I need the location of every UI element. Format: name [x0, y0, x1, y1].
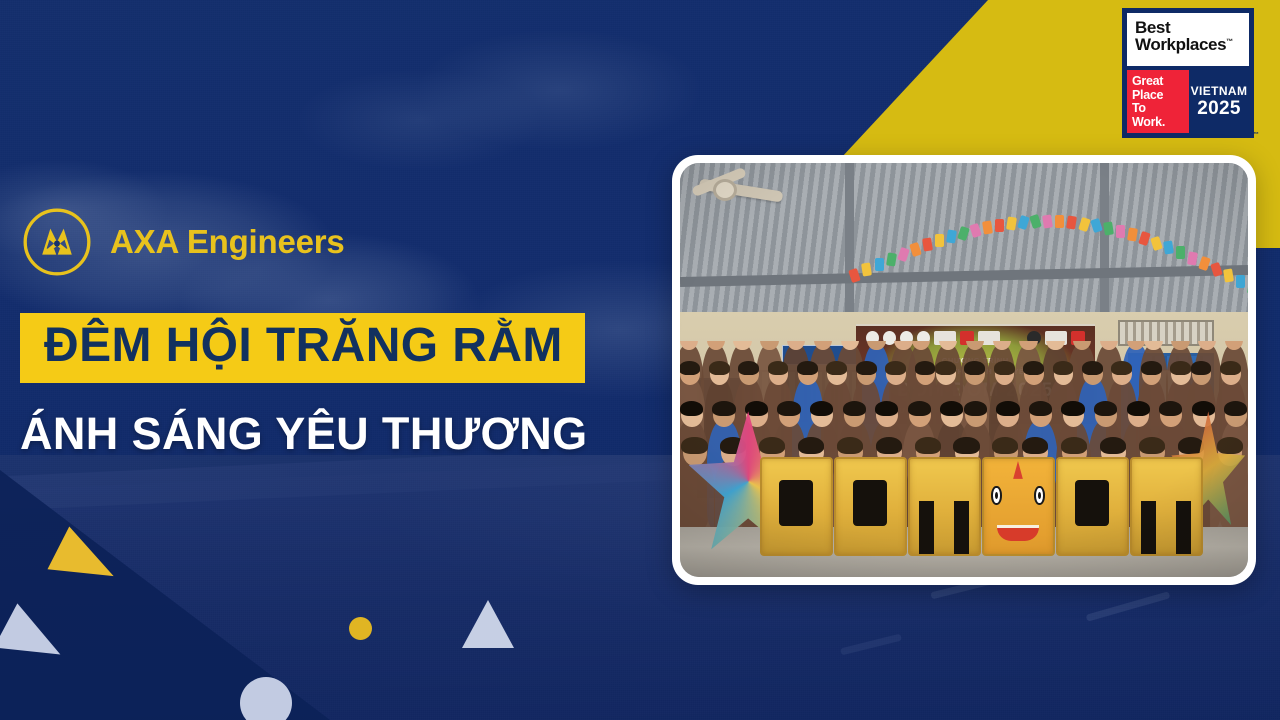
- badge-country: VIETNAM: [1191, 84, 1248, 98]
- trademark-icon: ™: [1226, 39, 1233, 46]
- person-hair: [935, 361, 956, 375]
- ceiling-fan-icon: [691, 171, 783, 211]
- person-hair: [798, 437, 824, 454]
- party-flag: [1017, 215, 1030, 230]
- party-flag: [1006, 216, 1017, 230]
- party-flag: [1055, 215, 1064, 228]
- party-flag: [1078, 216, 1091, 231]
- lion-face-icon: [988, 468, 1049, 542]
- person-hair: [953, 437, 979, 454]
- party-flag: [897, 247, 910, 262]
- person-hair: [777, 401, 800, 416]
- person-hair: [908, 401, 931, 416]
- party-flag: [1236, 275, 1245, 288]
- person-hair: [1023, 361, 1044, 375]
- party-flag: [935, 234, 944, 247]
- person-hair: [680, 401, 703, 416]
- person-hair: [876, 437, 902, 454]
- person-hair: [885, 361, 906, 375]
- person-hair: [994, 361, 1015, 375]
- person-hair: [712, 401, 735, 416]
- cardboard-letter-M2: [1130, 457, 1203, 556]
- person-hair: [843, 401, 866, 416]
- party-flag: [1042, 214, 1053, 228]
- badge-corner-trademark-icon: ™: [1253, 132, 1259, 138]
- person-hair: [1053, 361, 1074, 375]
- party-flag: [1247, 281, 1248, 295]
- badge-bottom-block: Great Place To Work. VIETNAM 2025: [1127, 70, 1249, 133]
- party-flag: [1150, 236, 1163, 251]
- axa-circular-monogram-icon: [20, 205, 94, 279]
- party-flag: [1090, 218, 1103, 233]
- person-hair: [1022, 437, 1048, 454]
- headline-subtitle: ÁNH SÁNG YÊU THƯƠNG: [20, 408, 588, 460]
- party-flag: [1030, 214, 1043, 229]
- person-hair: [875, 401, 898, 416]
- person-hair: [964, 401, 987, 416]
- party-flag: [1067, 215, 1078, 229]
- badge-title-block: Best Workplaces™: [1127, 13, 1249, 66]
- person-hair: [1111, 361, 1132, 375]
- gptw-line1: Great: [1132, 75, 1185, 89]
- cardboard-letter-M1: [908, 457, 981, 556]
- headline-title: ĐÊM HỘI TRĂNG RẰM: [44, 322, 563, 370]
- badge-line2: Workplaces™: [1135, 36, 1233, 53]
- party-flag: [1103, 221, 1114, 235]
- party-flag: [1138, 231, 1151, 246]
- party-flag: [875, 258, 884, 271]
- person-hair: [826, 361, 847, 375]
- badge-country-year: VIETNAM 2025: [1189, 70, 1249, 133]
- party-flag: [1187, 251, 1198, 265]
- group-photo: CHƯƠNG TRÌNH TRUNG THU TÌNH NGUYỆN ĐOM Đ…: [680, 163, 1248, 577]
- party-flag: [922, 238, 933, 252]
- brand-name: AXA Engineers: [110, 223, 345, 261]
- badge-year: 2025: [1197, 98, 1240, 120]
- person-hair: [1224, 401, 1247, 416]
- cardboard-letter-D1: [760, 457, 833, 556]
- person-hair: [1191, 361, 1212, 375]
- badge-line1: Best: [1135, 19, 1242, 36]
- decor-dot-yellow: [349, 617, 372, 640]
- party-flag: [1223, 268, 1234, 282]
- brand-logo: AXA Engineers: [20, 205, 345, 279]
- person-hair: [1100, 437, 1126, 454]
- person-hair: [1061, 437, 1087, 454]
- gptw-line4: Work.: [1132, 116, 1185, 130]
- person-hair: [1220, 361, 1241, 375]
- person-hair: [940, 401, 963, 416]
- decor-dot-gray: [240, 677, 292, 720]
- person-hair: [768, 361, 789, 375]
- person-hair: [759, 437, 785, 454]
- person-hair: [709, 361, 730, 375]
- party-flag-string: [850, 180, 1248, 304]
- person-hair: [992, 437, 1018, 454]
- party-flag: [946, 230, 957, 244]
- person-hair: [915, 437, 941, 454]
- photo-card: CHƯƠNG TRÌNH TRUNG THU TÌNH NGUYỆN ĐOM Đ…: [672, 155, 1256, 585]
- person-hair: [996, 401, 1019, 416]
- party-flag: [1116, 225, 1125, 238]
- party-flag: [957, 226, 970, 241]
- great-place-to-work-logo: Great Place To Work.: [1127, 70, 1189, 133]
- gptw-line2: Place: [1132, 89, 1185, 103]
- party-flag: [1127, 228, 1138, 242]
- party-flag: [1176, 246, 1185, 259]
- cardboard-letter-O2: [1056, 457, 1129, 556]
- party-flag: [982, 220, 993, 234]
- person-hair: [1082, 361, 1103, 375]
- badge-line2-text: Workplaces: [1135, 35, 1226, 54]
- cardboard-letter-D2-lion: [982, 457, 1055, 556]
- party-flag: [849, 268, 862, 283]
- person-hair: [681, 437, 707, 454]
- cardboard-letters: [760, 457, 1203, 556]
- party-flag: [861, 263, 872, 277]
- party-flag: [1163, 241, 1174, 255]
- decor-triangle-gray-center: [462, 600, 514, 648]
- person-hair: [856, 361, 877, 375]
- person-hair: [1139, 437, 1165, 454]
- person-hair: [1061, 401, 1084, 416]
- person-hair: [1217, 437, 1243, 454]
- headline-band: ĐÊM HỘI TRĂNG RẰM: [20, 313, 585, 383]
- person-hair: [964, 361, 985, 375]
- party-flag: [969, 222, 982, 237]
- person-hair: [1127, 401, 1150, 416]
- person-hair: [915, 361, 936, 375]
- badge-inner: Best Workplaces™ Great Place To Work. VI…: [1122, 8, 1254, 138]
- promotional-banner: Best Workplaces™ Great Place To Work. VI…: [0, 0, 1280, 720]
- person-hair: [810, 401, 833, 416]
- person-hair: [1029, 401, 1052, 416]
- person-hair: [1159, 401, 1182, 416]
- person-hair: [837, 437, 863, 454]
- party-flag: [886, 252, 897, 266]
- best-workplaces-badge: Best Workplaces™ Great Place To Work. VI…: [1112, 0, 1264, 148]
- person-hair: [1094, 401, 1117, 416]
- person-hair: [680, 361, 700, 375]
- person-hair: [797, 361, 818, 375]
- person-hair: [738, 361, 759, 375]
- party-flag: [1210, 262, 1223, 277]
- gptw-line3: To: [1132, 102, 1185, 116]
- person-hair: [1141, 361, 1162, 375]
- party-flag: [1198, 256, 1211, 271]
- cardboard-letter-O1: [834, 457, 907, 556]
- party-flag: [909, 242, 922, 257]
- person-hair: [1170, 361, 1191, 375]
- person-hair: [1192, 401, 1215, 416]
- party-flag: [995, 219, 1004, 232]
